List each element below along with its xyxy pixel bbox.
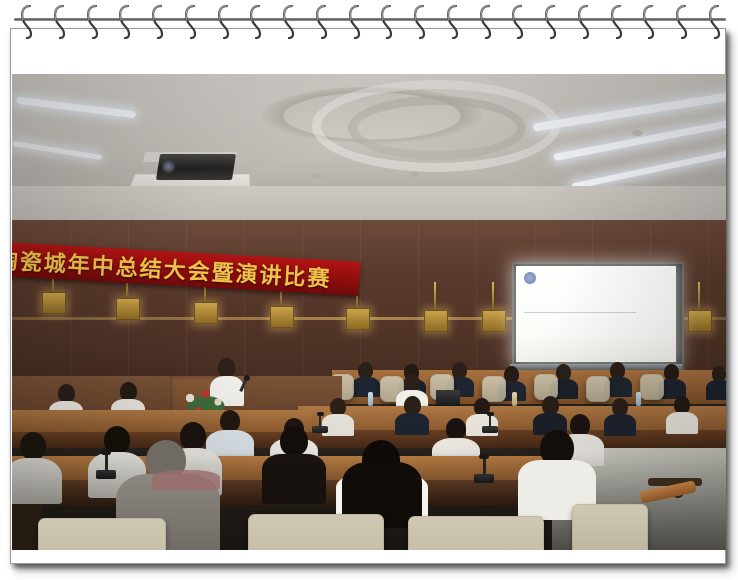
photo-frame: 陶瓷城年中总结大会暨演讲比赛	[0, 0, 738, 580]
wall-sconce-stem	[434, 282, 436, 310]
screen-logo-icon	[524, 272, 536, 284]
ceiling-ring-inner	[348, 96, 526, 160]
wall-sconce-stem	[492, 282, 494, 310]
desk-microphone-stem	[483, 458, 486, 475]
ceiling	[12, 74, 726, 192]
wall-sconce	[482, 310, 506, 332]
spiral-bar	[14, 18, 726, 21]
desk-microphone-head	[479, 454, 489, 459]
conference-chair	[586, 376, 610, 402]
wall-sconce	[424, 310, 448, 332]
desk-microphone-head	[101, 450, 111, 455]
desk-microphone-stem	[105, 454, 108, 471]
ceiling-light-strip-3	[571, 148, 726, 189]
ceiling-speaker-4	[632, 130, 643, 136]
water-bottle	[368, 392, 373, 406]
water-bottle	[636, 392, 641, 406]
desk-microphone-head	[487, 412, 494, 416]
desk-microphone-stem	[319, 415, 321, 427]
ceiling-speaker-2	[312, 174, 321, 179]
water-bottle	[512, 392, 517, 406]
conference-chair	[640, 374, 664, 400]
projection-screen	[516, 266, 676, 362]
wall-sconce	[688, 310, 712, 332]
wall-sconce-stem	[698, 282, 700, 310]
desk-microphone	[312, 426, 328, 433]
conference-chair-right	[572, 504, 648, 550]
conference-photograph: 陶瓷城年中总结大会暨演讲比赛	[12, 74, 726, 550]
desk-microphone	[474, 474, 494, 483]
desk-microphone-stem	[489, 415, 491, 427]
desk-microphone	[482, 426, 498, 433]
projector-lens-icon	[162, 160, 175, 173]
desk-microphone	[96, 470, 116, 479]
ceiling-light-strip-5	[12, 141, 102, 160]
microphone-head-icon	[244, 375, 250, 381]
wall-sconce	[116, 298, 140, 320]
wall-sconce	[270, 306, 294, 328]
collar	[152, 470, 220, 490]
ceiling-speaker-3	[410, 172, 419, 177]
desk-microphone-head	[317, 412, 324, 416]
conference-chair-foreground	[38, 518, 166, 550]
desk-row-middle-front	[298, 430, 726, 448]
wall-sconce	[194, 302, 218, 324]
conference-chair-foreground	[248, 514, 384, 550]
upper-wall	[12, 186, 726, 224]
wall-sconce	[346, 308, 370, 330]
wall-sconce	[42, 292, 66, 314]
ceiling-light-strip-4	[16, 97, 136, 119]
conference-chair-foreground	[408, 516, 544, 550]
screen-content-line	[524, 312, 636, 313]
